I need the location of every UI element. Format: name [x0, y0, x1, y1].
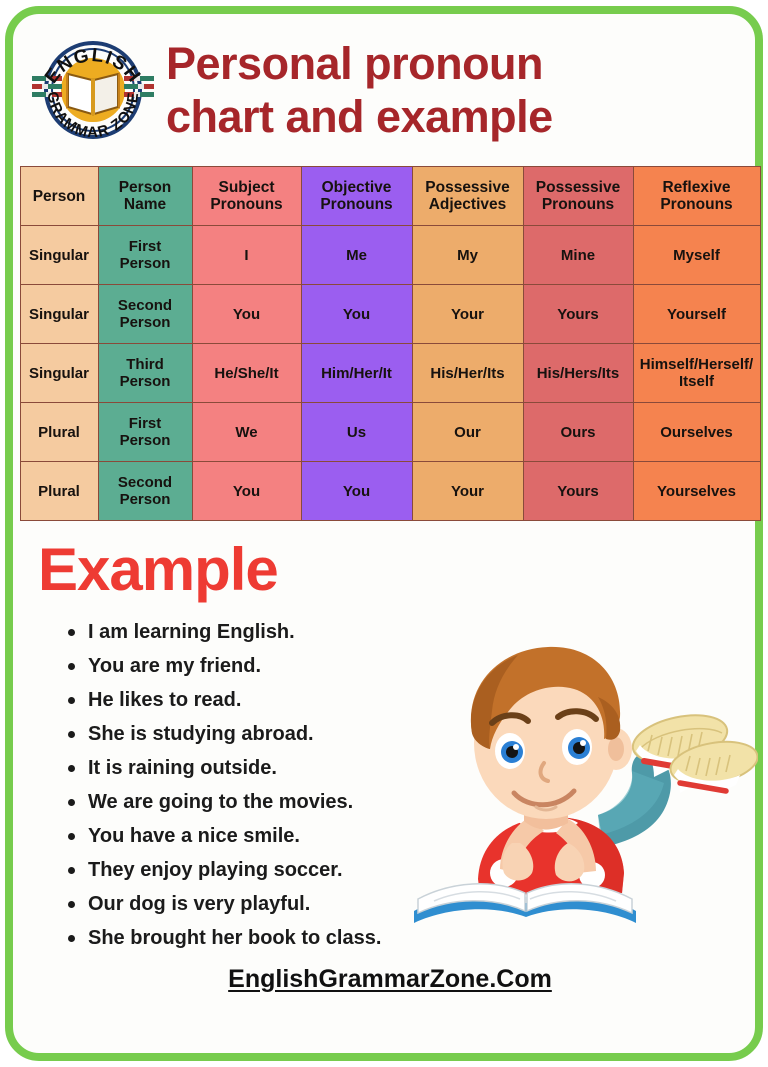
- header-text-line-1: Subject: [219, 179, 275, 196]
- cell-possessive-pronoun: Ours: [523, 403, 633, 462]
- table-row: Singular Third Person He/She/It Him/Her/…: [20, 344, 760, 403]
- list-item: They enjoy playing soccer.: [66, 853, 436, 887]
- header-text-line-2: Pronouns: [210, 196, 282, 213]
- cell-subject-pronoun: You: [192, 462, 301, 521]
- website-link[interactable]: EnglishGrammarZone.Com: [228, 965, 552, 993]
- english-grammar-zone-badge-icon: ENGLISH GRAMMAR ZONE: [28, 26, 158, 154]
- list-item: Our dog is very playful.: [66, 887, 436, 921]
- column-header-objective-pronouns: Objective Pronouns: [301, 167, 412, 226]
- cell-subject-pronoun: You: [192, 285, 301, 344]
- cell-reflexive-pronoun: Ourselves: [633, 403, 760, 462]
- example-heading: Example: [16, 521, 764, 605]
- person-name-line-1: Second: [118, 474, 172, 491]
- table-row: Plural Second Person You You Your Yours …: [20, 462, 760, 521]
- table-row: Singular First Person I Me My Mine Mysel…: [20, 226, 760, 285]
- table-row: Plural First Person We Us Our Ours Ourse…: [20, 403, 760, 462]
- header-text-line-2: Pronouns: [542, 196, 614, 213]
- person-name-line-2: Person: [120, 314, 171, 331]
- list-item: We are going to the movies.: [66, 785, 436, 819]
- page-title: Personal pronoun chart and example: [158, 37, 764, 143]
- cell-person: Singular: [20, 285, 98, 344]
- cell-person: Plural: [20, 462, 98, 521]
- cell-objective-pronoun: Him/Her/It: [301, 344, 412, 403]
- person-name-line-1: First: [129, 415, 162, 432]
- cell-possessive-adjective: Your: [412, 285, 523, 344]
- header: ENGLISH GRAMMAR ZONE Personal pronoun ch…: [16, 20, 764, 160]
- column-header-subject-pronouns: Subject Pronouns: [192, 167, 301, 226]
- list-item: She is studying abroad.: [66, 717, 436, 751]
- cell-objective-pronoun: Us: [301, 403, 412, 462]
- cell-person-name: Third Person: [98, 344, 192, 403]
- person-name-line-2: Person: [120, 432, 171, 449]
- cell-possessive-pronoun: His/Hers/Its: [523, 344, 633, 403]
- footer: EnglishGrammarZone.Com: [16, 957, 764, 994]
- cell-person-name: First Person: [98, 226, 192, 285]
- cell-person-name: Second Person: [98, 285, 192, 344]
- person-name-line-1: Third: [126, 356, 164, 373]
- header-text-line-1: Possessive: [536, 179, 620, 196]
- list-item: She brought her book to class.: [66, 921, 436, 955]
- person-name-line-2: Person: [120, 491, 171, 508]
- header-text-line-2: Pronouns: [320, 196, 392, 213]
- person-name-line-1: First: [129, 238, 162, 255]
- cell-objective-pronoun: Me: [301, 226, 412, 285]
- person-name-line-2: Person: [120, 255, 171, 272]
- header-text-line-1: Objective: [322, 179, 392, 196]
- cell-reflexive-pronoun: Himself/Herself/ Itself: [633, 344, 760, 403]
- infographic-page: ENGLISH GRAMMAR ZONE Personal pronoun ch…: [0, 0, 768, 1067]
- title-line-1: Personal pronoun: [166, 37, 754, 90]
- boy-reading-book-illustration: [408, 611, 758, 941]
- list-item: He likes to read.: [66, 683, 436, 717]
- title-line-2: chart and example: [166, 90, 754, 143]
- header-text-line-1: Person: [119, 179, 172, 196]
- cell-possessive-pronoun: Yours: [523, 285, 633, 344]
- column-header-possessive-adjectives: Possessive Adjectives: [412, 167, 523, 226]
- list-item: You have a nice smile.: [66, 819, 436, 853]
- cell-objective-pronoun: You: [301, 462, 412, 521]
- pronoun-chart-table: Person Person Name Subject Pronouns Obje…: [20, 166, 761, 521]
- column-header-person-name: Person Name: [98, 167, 192, 226]
- example-list: I am learning English. You are my friend…: [16, 605, 436, 955]
- cell-reflexive-pronoun: Yourselves: [633, 462, 760, 521]
- cell-objective-pronoun: You: [301, 285, 412, 344]
- cell-possessive-pronoun: Mine: [523, 226, 633, 285]
- table-row: Singular Second Person You You Your Your…: [20, 285, 760, 344]
- header-text-line-1: Reflexive: [662, 179, 730, 196]
- cell-possessive-adjective: Our: [412, 403, 523, 462]
- cell-person: Singular: [20, 226, 98, 285]
- list-item: I am learning English.: [66, 615, 436, 649]
- pronoun-chart-wrapper: Person Person Name Subject Pronouns Obje…: [18, 166, 762, 521]
- cell-person-name: Second Person: [98, 462, 192, 521]
- list-item: You are my friend.: [66, 649, 436, 683]
- person-name-line-2: Person: [120, 373, 171, 390]
- column-header-person: Person: [20, 167, 98, 226]
- cell-possessive-adjective: My: [412, 226, 523, 285]
- cell-person-name: First Person: [98, 403, 192, 462]
- table-header-row: Person Person Name Subject Pronouns Obje…: [20, 167, 760, 226]
- cell-reflexive-pronoun: Myself: [633, 226, 760, 285]
- column-header-reflexive-pronouns: Reflexive Pronouns: [633, 167, 760, 226]
- cell-subject-pronoun: He/She/It: [192, 344, 301, 403]
- person-name-line-1: Second: [118, 297, 172, 314]
- header-text-line-1: Possessive: [425, 179, 509, 196]
- cell-possessive-adjective: His/Her/Its: [412, 344, 523, 403]
- header-text-line-2: Pronouns: [660, 196, 732, 213]
- header-text: Person: [33, 188, 86, 205]
- cell-subject-pronoun: We: [192, 403, 301, 462]
- page-content: ENGLISH GRAMMAR ZONE Personal pronoun ch…: [6, 6, 768, 1067]
- cell-person: Singular: [20, 344, 98, 403]
- header-text-line-2: Adjectives: [429, 196, 507, 213]
- column-header-possessive-pronouns: Possessive Pronouns: [523, 167, 633, 226]
- cell-possessive-pronoun: Yours: [523, 462, 633, 521]
- cell-subject-pronoun: I: [192, 226, 301, 285]
- cell-reflexive-pronoun: Yourself: [633, 285, 760, 344]
- cell-person: Plural: [20, 403, 98, 462]
- header-text-line-2: Name: [124, 196, 166, 213]
- list-item: It is raining outside.: [66, 751, 436, 785]
- example-section: I am learning English. You are my friend…: [16, 605, 764, 957]
- cell-possessive-adjective: Your: [412, 462, 523, 521]
